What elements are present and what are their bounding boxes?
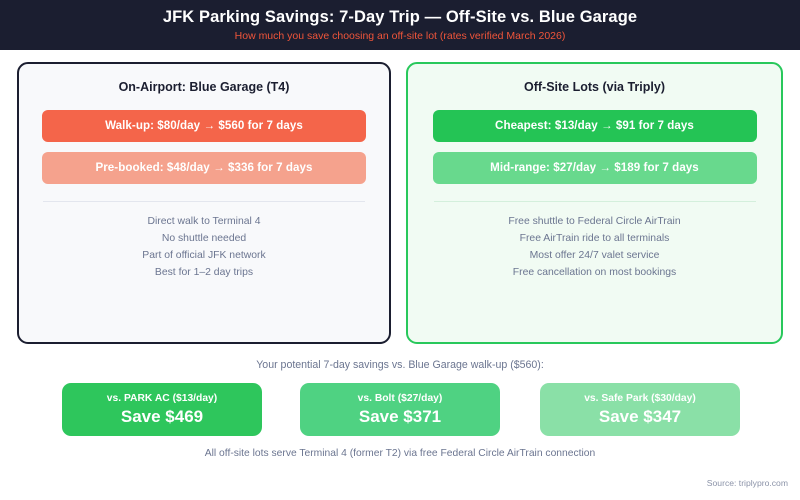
feature-list-on-airport: Direct walk to Terminal 4 No shuttle nee… [142,213,265,281]
source-attribution: Source: triplypro.com [707,479,788,488]
feature-item: No shuttle needed [162,230,246,247]
panel-divider-left [43,201,365,202]
rate-bar-prebooked: Pre-booked: $48/day → $336 for 7 days [42,152,366,184]
panel-title-off-site: Off-Site Lots (via Triply) [524,81,665,94]
footnote-text: All off-site lots serve Terminal 4 (form… [0,449,800,459]
savings-card-label: vs. Bolt ($27/day) [358,394,443,404]
panel-title-on-airport: On-Airport: Blue Garage (T4) [119,81,290,94]
feature-list-off-site: Free shuttle to Federal Circle AirTrain … [508,213,680,281]
rate-bar-walkup: Walk-up: $80/day → $560 for 7 days [42,110,366,142]
page-header: JFK Parking Savings: 7-Day Trip — Off-Si… [0,0,800,50]
feature-item: Part of official JFK network [142,247,265,264]
rate-bar-cheapest: Cheapest: $13/day → $91 for 7 days [433,110,757,142]
savings-card-bolt: vs. Bolt ($27/day) Save $371 [300,383,500,436]
savings-card-safe-park: vs. Safe Park ($30/day) Save $347 [540,383,740,436]
savings-card-label: vs. PARK AC ($13/day) [107,394,217,404]
feature-item: Free AirTrain ride to all terminals [520,230,670,247]
savings-card-value: Save $469 [121,408,203,425]
savings-card-value: Save $347 [599,408,681,425]
page-subtitle: How much you save choosing an off-site l… [235,31,566,42]
rate-bar-midrange: Mid-range: $27/day → $189 for 7 days [433,152,757,184]
feature-item: Free shuttle to Federal Circle AirTrain [508,213,680,230]
savings-caption: Your potential 7-day savings vs. Blue Ga… [0,360,800,371]
feature-item: Most offer 24/7 valet service [530,247,660,264]
feature-item: Direct walk to Terminal 4 [147,213,260,230]
savings-card-park-ac: vs. PARK AC ($13/day) Save $469 [62,383,262,436]
panel-divider-right [434,201,756,202]
panel-on-airport: On-Airport: Blue Garage (T4) Walk-up: $8… [17,62,391,344]
feature-item: Best for 1–2 day trips [155,264,253,281]
page-title: JFK Parking Savings: 7-Day Trip — Off-Si… [163,9,637,26]
comparison-panels: On-Airport: Blue Garage (T4) Walk-up: $8… [0,62,800,346]
savings-card-label: vs. Safe Park ($30/day) [584,394,696,404]
savings-card-row: vs. PARK AC ($13/day) Save $469 vs. Bolt… [0,383,800,437]
savings-card-value: Save $371 [359,408,441,425]
feature-item: Free cancellation on most bookings [513,264,676,281]
panel-off-site: Off-Site Lots (via Triply) Cheapest: $13… [406,62,783,344]
